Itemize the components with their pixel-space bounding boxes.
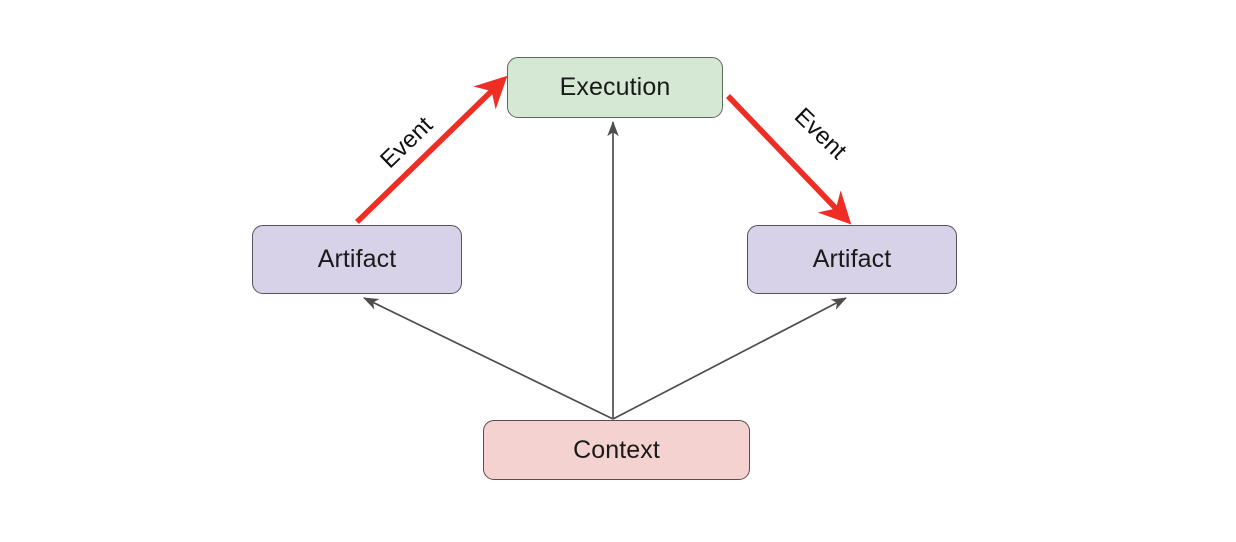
connector-context-to-artifact-left <box>364 298 613 419</box>
node-artifact-left-label: Artifact <box>318 247 397 272</box>
node-execution-label: Execution <box>560 75 671 100</box>
node-execution[interactable]: Execution <box>507 57 723 118</box>
connector-context-to-artifact-right <box>613 298 846 419</box>
node-context-label: Context <box>573 438 660 463</box>
diagram-canvas: Execution Artifact Artifact Context Even… <box>0 0 1236 542</box>
node-artifact-left[interactable]: Artifact <box>252 225 462 294</box>
node-artifact-right-label: Artifact <box>813 247 892 272</box>
node-context[interactable]: Context <box>483 420 750 480</box>
node-artifact-right[interactable]: Artifact <box>747 225 957 294</box>
